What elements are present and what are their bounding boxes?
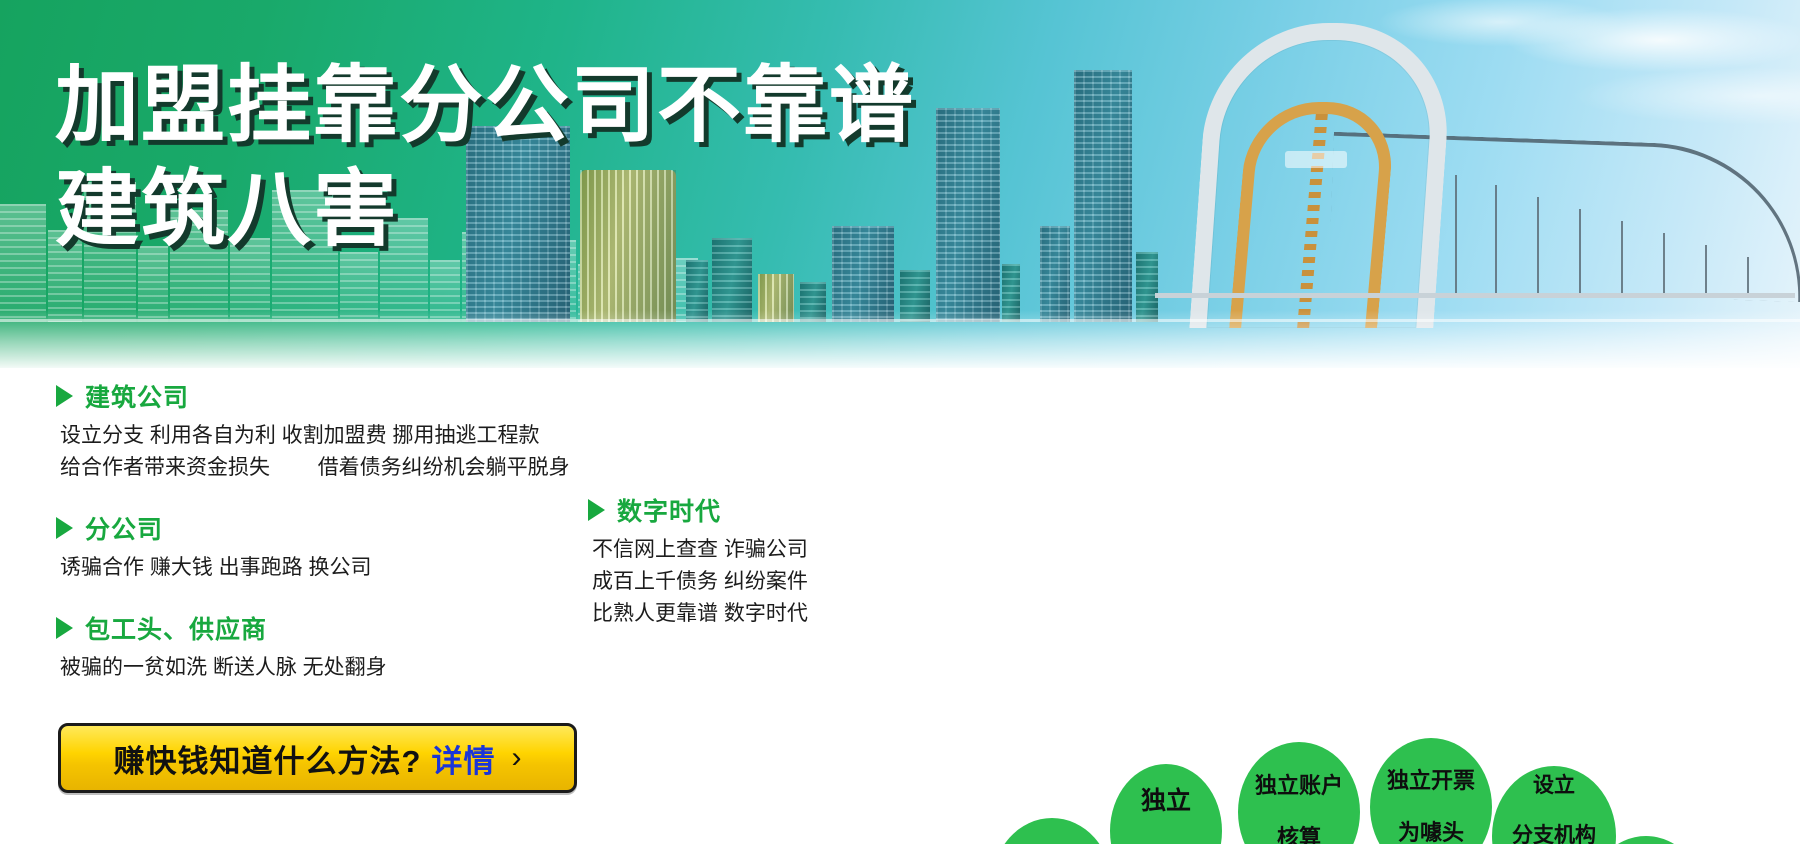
- section-line: 成百上千债务 纠纷案件: [592, 566, 848, 598]
- section-heading: 分公司: [56, 510, 616, 546]
- hero-banner: 加盟挂靠分公司不靠谱 建筑八害: [0, 0, 1800, 368]
- cta-button[interactable]: 赚快钱知道什么方法? 详情 ›: [58, 723, 577, 793]
- bubble-line: 分支机构: [1508, 824, 1600, 844]
- section-title-contractor-supplier: 包工头、供应商: [85, 610, 267, 646]
- poster-root: 加盟挂靠分公司不靠谱 建筑八害 建筑公司 设立分支 利用各自为利 收割加盟费 挪…: [0, 0, 1800, 844]
- section-heading: 包工头、供应商: [56, 610, 616, 646]
- section-title-digital-era: 数字时代: [617, 492, 721, 528]
- left-column: 建筑公司 设立分支 利用各自为利 收割加盟费 挪用抽逃工程款 给合作者带来资金损…: [56, 378, 616, 710]
- triangle-bullet-icon: [56, 385, 73, 407]
- section-line: 比熟人更靠谱 数字时代: [592, 598, 848, 630]
- section-line: 诱骗合作 赚大钱 出事跑路 换公司: [60, 552, 616, 584]
- section-heading: 建筑公司: [56, 378, 616, 414]
- bridge-sign: [1285, 151, 1347, 168]
- section-body: 诱骗合作 赚大钱 出事跑路 换公司: [60, 552, 616, 584]
- section-body: 被骗的一贫如洗 断送人脉 无处翻身: [60, 652, 616, 684]
- bubble-line: 为噱头: [1383, 820, 1479, 844]
- section-body: 不信网上查查 诈骗公司 成百上千债务 纠纷案件 比熟人更靠谱 数字时代: [592, 534, 848, 630]
- section-line-split: 给合作者带来资金损失 借着债务纠纷机会躺平脱身: [60, 452, 616, 484]
- triangle-bullet-icon: [56, 617, 73, 639]
- section-line: 被骗的一贫如洗 断送人脉 无处翻身: [60, 652, 616, 684]
- bubble-3[interactable]: 独立 运营: [1110, 764, 1222, 844]
- digital-era-column: 数字时代 不信网上查查 诈骗公司 成百上千债务 纠纷案件 比熟人更靠谱 数字时代: [588, 492, 848, 656]
- bubble-line: 核算: [1251, 825, 1347, 844]
- bubble-diagram: 建筑八害 借着使用 总公司资质 业绩和荣誉 独立承揽 签订: [900, 746, 1800, 844]
- section-line-part-dark: 给合作者带来资金损失: [60, 456, 270, 479]
- section-heading: 数字时代: [588, 492, 848, 528]
- bridge-illustration: [1155, 28, 1795, 328]
- hero-title-line2: 建筑八害: [55, 162, 915, 256]
- bubble-line: 独立开票: [1383, 768, 1479, 794]
- section-line: 不信网上查查 诈骗公司: [592, 534, 848, 566]
- section-contractor-supplier: 包工头、供应商 被骗的一贫如洗 断送人脉 无处翻身: [56, 610, 616, 684]
- triangle-bullet-icon: [56, 517, 73, 539]
- section-line-part-green: 借着债务纠纷机会躺平脱身: [318, 456, 570, 479]
- section-title-construction-company: 建筑公司: [85, 378, 189, 414]
- bubble-line: 设立: [1508, 774, 1600, 799]
- bubble-6[interactable]: 设立 分支机构 各自为利: [1492, 766, 1616, 844]
- content-area: 建筑公司 设立分支 利用各自为利 收割加盟费 挪用抽逃工程款 给合作者带来资金损…: [0, 368, 1800, 844]
- section-branch-company: 分公司 诱骗合作 赚大钱 出事跑路 换公司: [56, 510, 616, 584]
- hero-title-line1: 加盟挂靠分公司不靠谱: [55, 58, 915, 152]
- cta-label: 赚快钱知道什么方法?: [114, 736, 422, 781]
- section-title-branch-company: 分公司: [85, 510, 163, 546]
- section-construction-company: 建筑公司 设立分支 利用各自为利 收割加盟费 挪用抽逃工程款 给合作者带来资金损…: [56, 378, 616, 484]
- section-body: 设立分支 利用各自为利 收割加盟费 挪用抽逃工程款 给合作者带来资金损失 借着债…: [60, 420, 616, 484]
- triangle-bullet-icon: [588, 499, 605, 521]
- bubble-line: 独立: [1137, 787, 1195, 817]
- bubble-4[interactable]: 独立账户 核算: [1238, 742, 1360, 844]
- bubble-5[interactable]: 独立开票 为噱头: [1370, 738, 1492, 844]
- chevron-right-icon: ›: [511, 743, 521, 773]
- section-line: 设立分支 利用各自为利 收割加盟费 挪用抽逃工程款: [60, 420, 616, 452]
- bubble-2[interactable]: 独立承揽 签订合同: [992, 818, 1112, 844]
- bubble-line: 独立账户: [1251, 773, 1347, 799]
- cta-detail-link[interactable]: 详情: [431, 736, 495, 781]
- hero-title: 加盟挂靠分公司不靠谱 建筑八害: [55, 58, 915, 256]
